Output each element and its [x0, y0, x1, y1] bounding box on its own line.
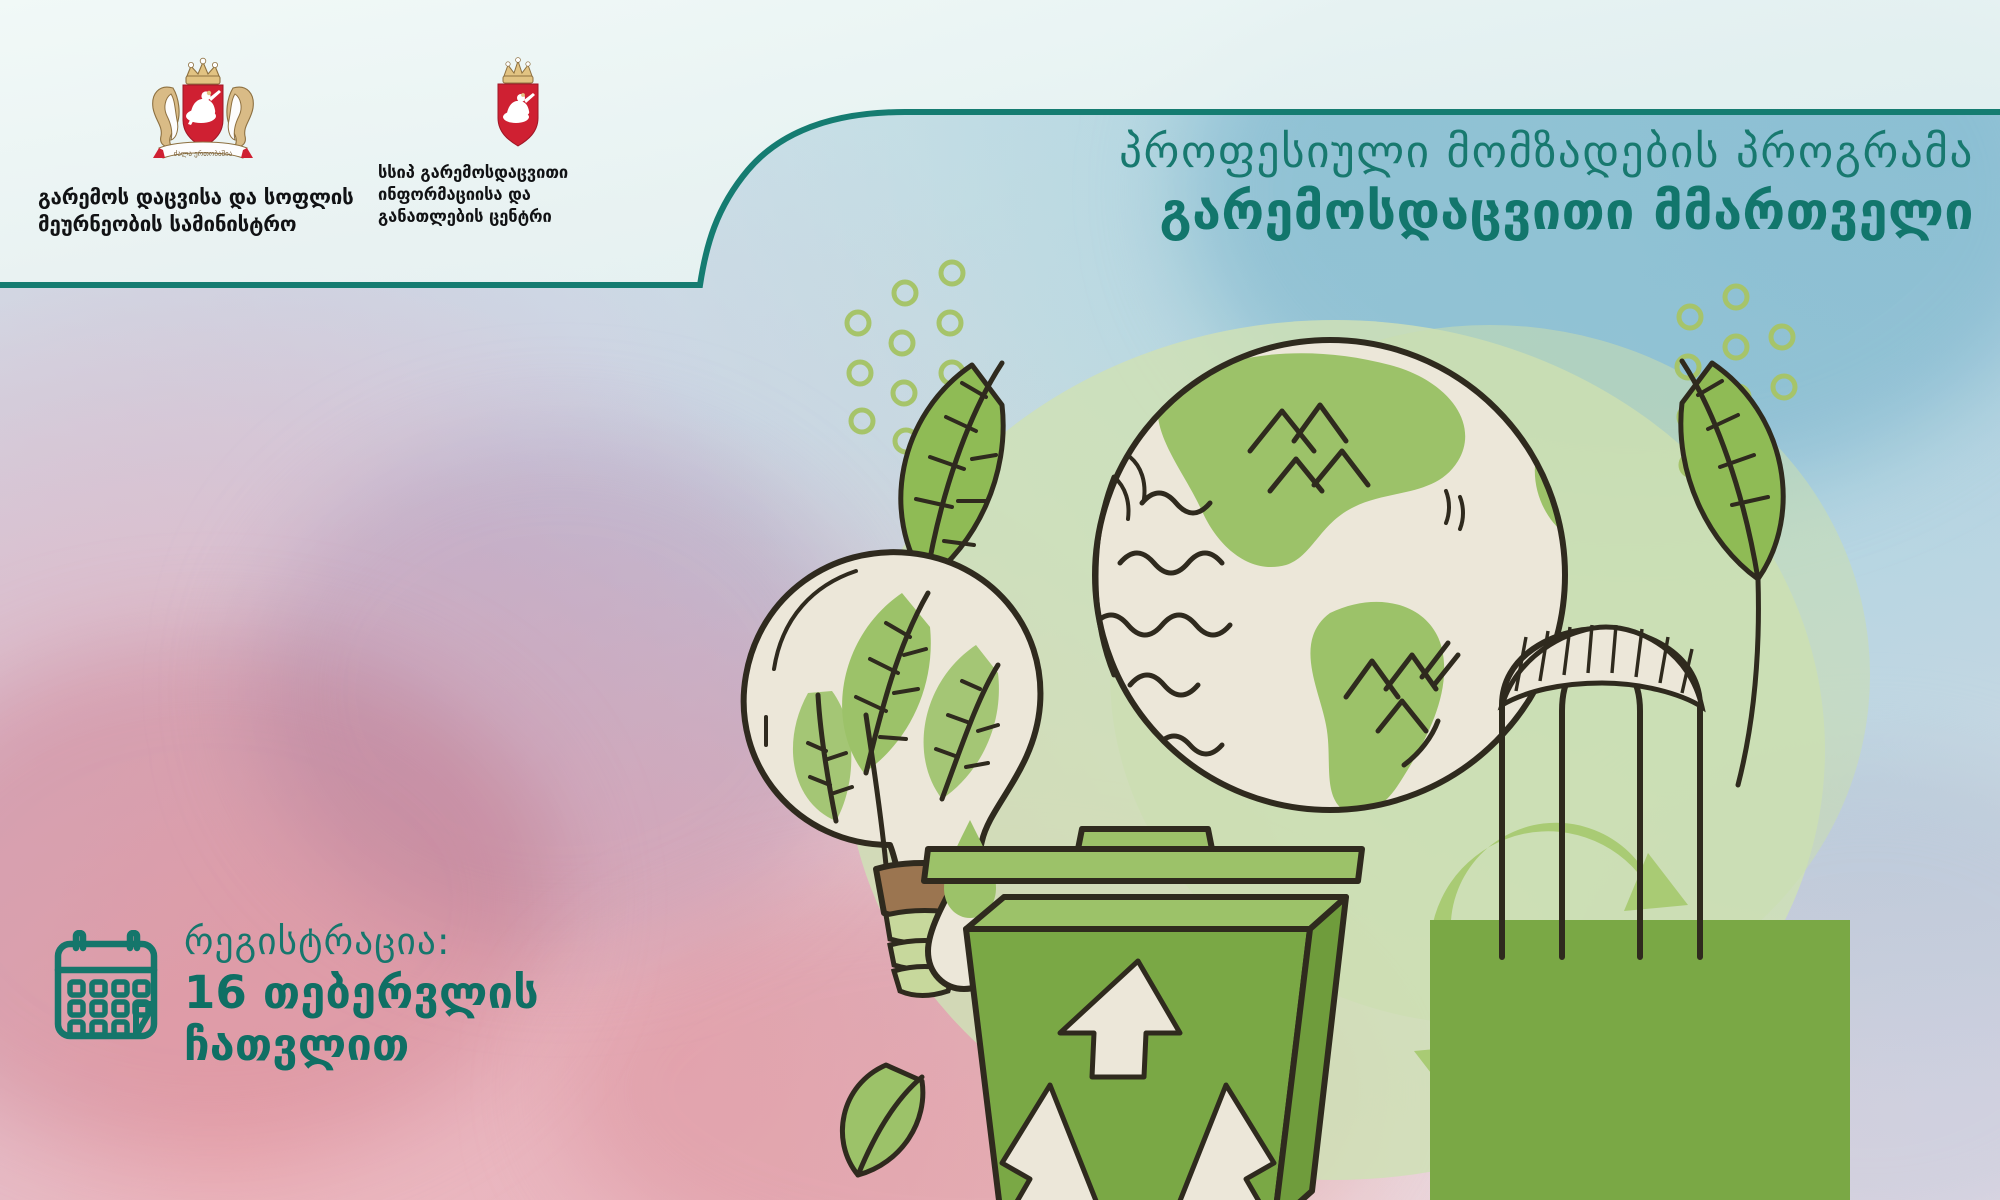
poster-root: ძალა ერთობაშია გარემოს დაცვისა და სოფლის…	[0, 0, 2000, 1200]
svg-text:ძალა ერთობაშია: ძალა ერთობაშია	[174, 149, 233, 158]
georgia-coat-of-arms-icon: ძალა ერთობაშია	[143, 54, 263, 172]
eco-illustration	[690, 245, 2000, 1200]
registration-block: რეგისტრაცია: 16 თებერვლის ჩათვლით	[52, 920, 539, 1071]
registration-deadline: 16 თებერვლის ჩათვლით	[184, 967, 539, 1071]
ministry-logo-line1: გარემოს დაცვისა და სოფლის	[38, 184, 368, 211]
registration-label: რეგისტრაცია:	[184, 922, 539, 963]
ministry-logo-line2: მეურნეობის სამინისტრო	[38, 211, 368, 238]
ministry-logo-text: გარემოს დაცვისა და სოფლის მეურნეობის სამ…	[38, 184, 368, 237]
center-logo-line1: სსიპ გარემოსდაცვითი	[378, 162, 658, 184]
registration-deadline-line1: 16 თებერვლის	[184, 966, 539, 1019]
center-logo-text: სსიპ გარემოსდაცვითი ინფორმაციისა და განა…	[378, 162, 658, 227]
logo-row: ძალა ერთობაშია გარემოს დაცვისა და სოფლის…	[0, 0, 700, 280]
leaf-icon-bottom	[842, 1065, 922, 1175]
georgia-small-shield-icon	[484, 54, 552, 150]
title-block: პროფესიული მომზადების პროგრამა გარემოსდა…	[634, 128, 1974, 241]
center-logo-line2: ინფორმაციისა და	[378, 184, 658, 206]
registration-deadline-line2: ჩათვლით	[184, 1019, 539, 1071]
ministry-logo-block: ძალა ერთობაშია გარემოს დაცვისა და სოფლის…	[38, 54, 368, 237]
page-title: გარემოსდაცვითი მმართველი	[634, 183, 1974, 241]
program-subtitle: პროფესიული მომზადების პროგრამა	[634, 128, 1974, 177]
calendar-icon	[52, 930, 160, 1046]
center-logo-line3: განათლების ცენტრი	[378, 206, 658, 228]
center-logo-block: სსიპ გარემოსდაცვითი ინფორმაციისა და განა…	[378, 54, 658, 227]
registration-text: რეგისტრაცია: 16 თებერვლის ჩათვლით	[184, 920, 539, 1071]
